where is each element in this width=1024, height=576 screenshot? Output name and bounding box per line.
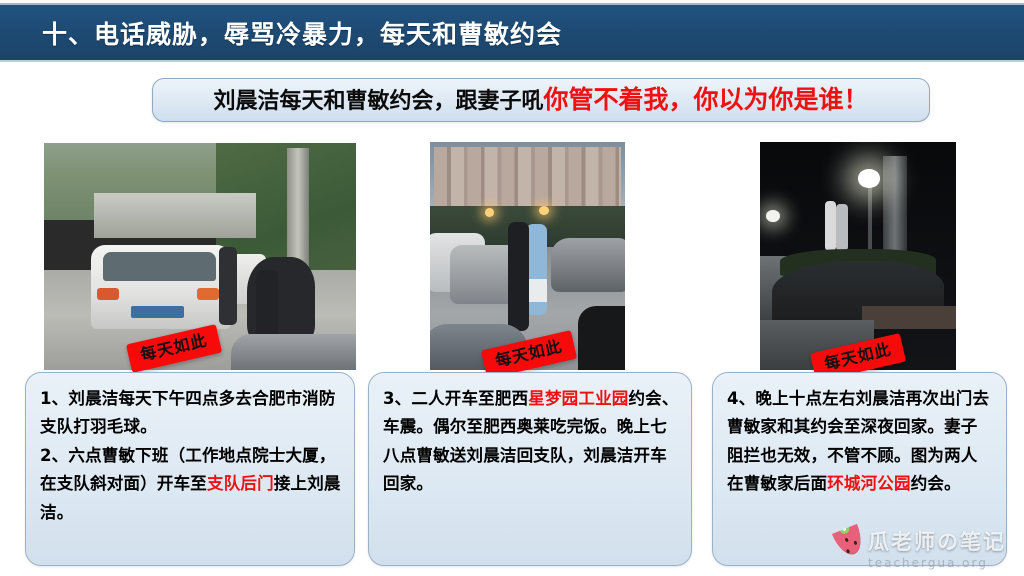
photo-3-lamp-pole: [868, 183, 872, 251]
subtitle-banner: 刘晨洁每天和曹敏约会，跟妻子吼你管不着我，你以为你是谁！: [152, 78, 930, 122]
photo-1-taillight-left: [97, 288, 119, 299]
subtitle-red-text: 你管不着我，你以为你是谁！: [544, 85, 869, 114]
photo-2-streetlamp-right: [539, 206, 549, 215]
photo-3-kerb: [862, 306, 956, 329]
photo-3-streetlamp: [858, 169, 880, 187]
watermark-url: teachergua.org: [868, 556, 988, 570]
page-title: 十、电话威胁，辱骂冷暴力，每天和曹敏约会: [42, 15, 562, 51]
caption-paragraph: 3、二人开车至肥西星梦园工业园约会、车震。偶尔至肥西奥莱吃完饭。晚上七八点曹敏送…: [383, 385, 679, 499]
caption-box-1: 1、刘晨洁每天下午四点多去合肥市消防支队打羽毛球。2、六点曹敏下班（工作地点院士…: [25, 372, 355, 566]
photo-1-foreground-car: [231, 334, 356, 370]
photo-2-person-black-shirt: [508, 222, 529, 331]
photo-1-suv-rear-window: [103, 252, 215, 282]
caption-text: 1、刘晨洁每天下午四点多去合肥市消防支队打羽毛球。: [40, 389, 336, 436]
photo-2-foreground-shadow: [578, 306, 625, 370]
caption-highlight-text: 环城河公园: [827, 474, 911, 493]
photo-1-license-plate: [131, 306, 184, 317]
photo-3-canvas: [760, 142, 956, 370]
caption-box-3: 4、晚上十点左右刘晨洁再次出门去曹敏家和其约会至深夜回家。妻子阻拦也无效，不管不…: [712, 372, 1007, 566]
photo-3-figure-a: [825, 201, 837, 251]
caption-text: 约会。: [911, 474, 961, 493]
caption-box-3-text: 4、晚上十点左右刘晨洁再次出门去曹敏家和其约会至深夜回家。妻子阻拦也无效，不管不…: [727, 385, 994, 499]
caption-box-2: 3、二人开车至肥西星梦园工业园约会、车震。偶尔至肥西奥莱吃完饭。晚上七八点曹敏送…: [368, 372, 692, 566]
photo-3-figure-b: [836, 204, 848, 252]
slide-root: 十、电话威胁，辱骂冷暴力，每天和曹敏约会 刘晨洁每天和曹敏约会，跟妻子吼你管不着…: [0, 0, 1024, 576]
caption-paragraph: 2、六点曹敏下班（工作地点院士大厦，在支队斜对面）开车至支队后门接上刘晨洁。: [40, 442, 342, 527]
subtitle-text: 刘晨洁每天和曹敏约会，跟妻子吼你管不着我，你以为你是谁！: [213, 87, 868, 113]
photo-3-distant-light: [766, 210, 780, 221]
caption-highlight-text: 支队后门: [207, 474, 274, 493]
caption-paragraph: 1、刘晨洁每天下午四点多去合肥市消防支队打羽毛球。: [40, 385, 342, 442]
photo-2-canvas: [430, 142, 625, 370]
caption-highlight-text: 星梦园工业园: [528, 389, 628, 408]
header-band: 十、电话威胁，辱骂冷暴力，每天和曹敏约会: [0, 3, 1024, 62]
caption-paragraph: 4、晚上十点左右刘晨洁再次出门去曹敏家和其约会至深夜回家。妻子阻拦也无效，不管不…: [727, 385, 994, 499]
subtitle-black-text: 刘晨洁每天和曹敏约会，跟妻子吼: [213, 89, 543, 114]
photo-2-car-right: [551, 238, 625, 293]
photo-1-person-standing: [219, 247, 238, 324]
photo-1-building: [94, 193, 256, 238]
photo-1-taillight-right: [197, 288, 219, 299]
caption-text: 3、二人开车至肥西: [383, 389, 528, 408]
photo-parking-dusk: [430, 142, 625, 370]
caption-box-2-text: 3、二人开车至肥西星梦园工业园约会、车震。偶尔至肥西奥莱吃完饭。晚上七八点曹敏送…: [383, 385, 679, 499]
caption-box-1-text: 1、刘晨洁每天下午四点多去合肥市消防支队打羽毛球。2、六点曹敏下班（工作地点院士…: [40, 385, 342, 527]
photo-park-night: [760, 142, 956, 370]
